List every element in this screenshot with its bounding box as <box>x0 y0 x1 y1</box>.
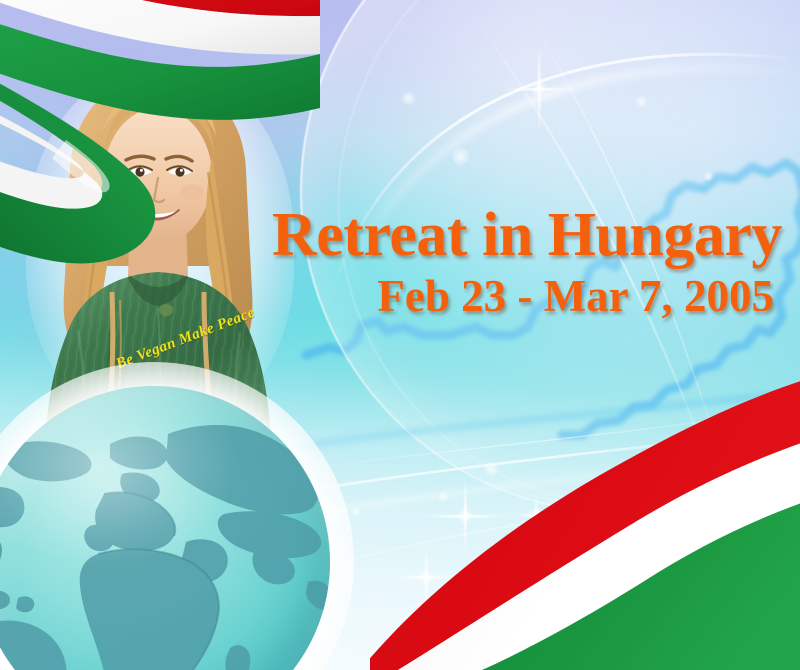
bokeh-dot <box>352 508 360 516</box>
page-title: Retreat in Hungary <box>272 204 792 267</box>
event-dates: Feb 23 - Mar 7, 2005 <box>272 273 774 320</box>
bokeh-dot <box>704 172 713 181</box>
bokeh-dot <box>402 92 415 105</box>
headline-block: Retreat in Hungary Feb 23 - Mar 7, 2005 <box>272 204 792 320</box>
bokeh-dot <box>452 148 469 165</box>
poster-canvas: Be Vegan Make Peace <box>0 0 800 670</box>
hungarian-flag-ribbon-bottom-right <box>370 370 800 670</box>
earth-globe <box>0 386 330 670</box>
hungarian-flag-ribbon-top-left <box>0 0 320 370</box>
bokeh-dot <box>636 96 647 107</box>
